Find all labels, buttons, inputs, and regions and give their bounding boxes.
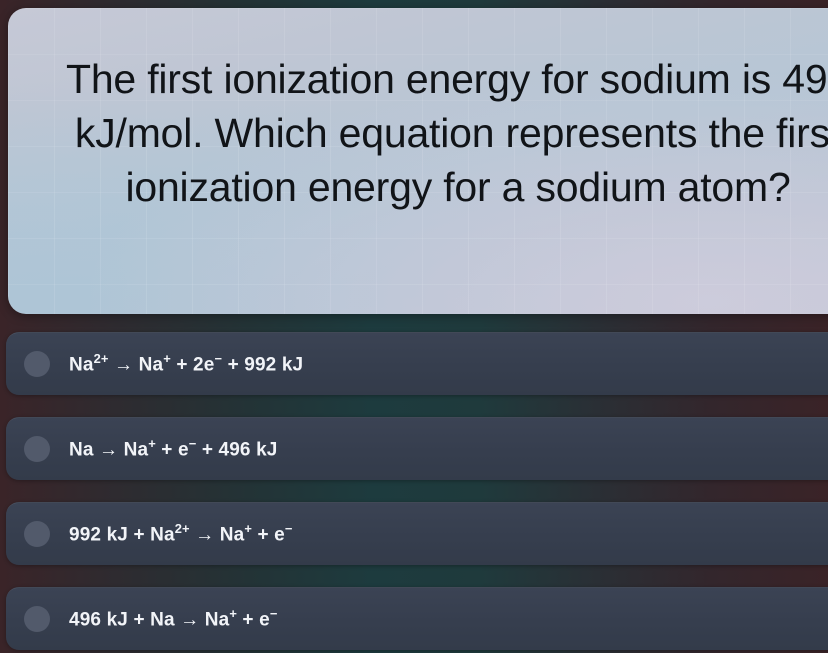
question-text: The first ionization energy for sodium i…	[48, 8, 828, 214]
answer-option-4-label: 496 kJ + Na → Na+ + e−	[69, 606, 278, 631]
answer-option-4[interactable]: 496 kJ + Na → Na+ + e−	[6, 587, 828, 650]
answer-options-list: Na2+ → Na+ + 2e− + 992 kJ Na → Na+ + e− …	[0, 332, 828, 653]
radio-unselected-icon[interactable]	[24, 436, 50, 462]
radio-unselected-icon[interactable]	[24, 521, 50, 547]
answer-option-1-label: Na2+ → Na+ + 2e− + 992 kJ	[69, 351, 303, 376]
answer-option-3-label: 992 kJ + Na2+ → Na+ + e−	[69, 521, 293, 546]
radio-unselected-icon[interactable]	[24, 606, 50, 632]
answer-option-2[interactable]: Na → Na+ + e− + 496 kJ	[6, 417, 828, 480]
answer-option-1[interactable]: Na2+ → Na+ + 2e− + 992 kJ	[6, 332, 828, 395]
question-card: The first ionization energy for sodium i…	[8, 8, 828, 314]
answer-option-2-label: Na → Na+ + e− + 496 kJ	[69, 436, 278, 461]
answer-option-3[interactable]: 992 kJ + Na2+ → Na+ + e−	[6, 502, 828, 565]
radio-unselected-icon[interactable]	[24, 351, 50, 377]
